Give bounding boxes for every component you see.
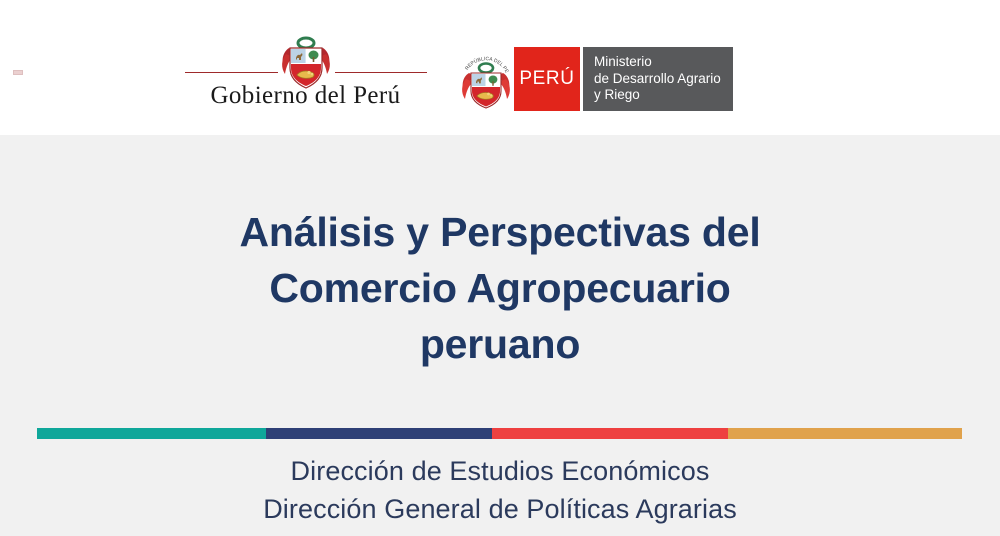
title-line-2: Comercio Agropecuario — [130, 260, 870, 316]
header-band: Gobierno del Perú REPÚBLICA DEL PERÚ — [0, 0, 1000, 135]
ministerio-logo: REPÚBLICA DEL PERÚ — [458, 47, 733, 111]
subtitle-line-1: Dirección de Estudios Económicos — [100, 452, 900, 490]
gobierno-del-peru-logo: Gobierno del Perú — [183, 34, 428, 116]
accent-color-bar — [37, 428, 962, 439]
ministerio-name-box: Ministerio de Desarrollo Agrario y Riego — [583, 47, 733, 111]
color-bar-segment-navy — [266, 428, 492, 439]
ministerio-name-line-1: Ministerio — [594, 54, 721, 71]
red-corner-mark — [13, 70, 23, 75]
title-line-3: peruano — [130, 316, 870, 372]
subtitle-block: Dirección de Estudios Económicos Direcci… — [100, 452, 900, 528]
peru-national-emblem-icon: REPÚBLICA DEL PERÚ — [458, 47, 514, 111]
title-slide: Gobierno del Perú REPÚBLICA DEL PERÚ — [0, 0, 1000, 536]
ministerio-name-line-3: y Riego — [594, 87, 721, 104]
color-bar-segment-teal — [37, 428, 266, 439]
svg-text:REPÚBLICA DEL PERÚ: REPÚBLICA DEL PERÚ — [458, 47, 510, 75]
title-line-1: Análisis y Perspectivas del — [130, 204, 870, 260]
gobierno-wordmark: Gobierno del Perú — [183, 82, 428, 110]
logo-rule-right — [335, 72, 427, 73]
page-title: Análisis y Perspectivas del Comercio Agr… — [130, 204, 870, 372]
subtitle-line-2: Dirección General de Políticas Agrarias — [100, 490, 900, 528]
logo-rule-left — [185, 72, 278, 73]
color-bar-segment-red — [492, 428, 728, 439]
color-bar-segment-amber — [728, 428, 962, 439]
peru-label-box: PERÚ — [514, 47, 580, 111]
ministerio-name-line-2: de Desarrollo Agrario — [594, 71, 721, 88]
